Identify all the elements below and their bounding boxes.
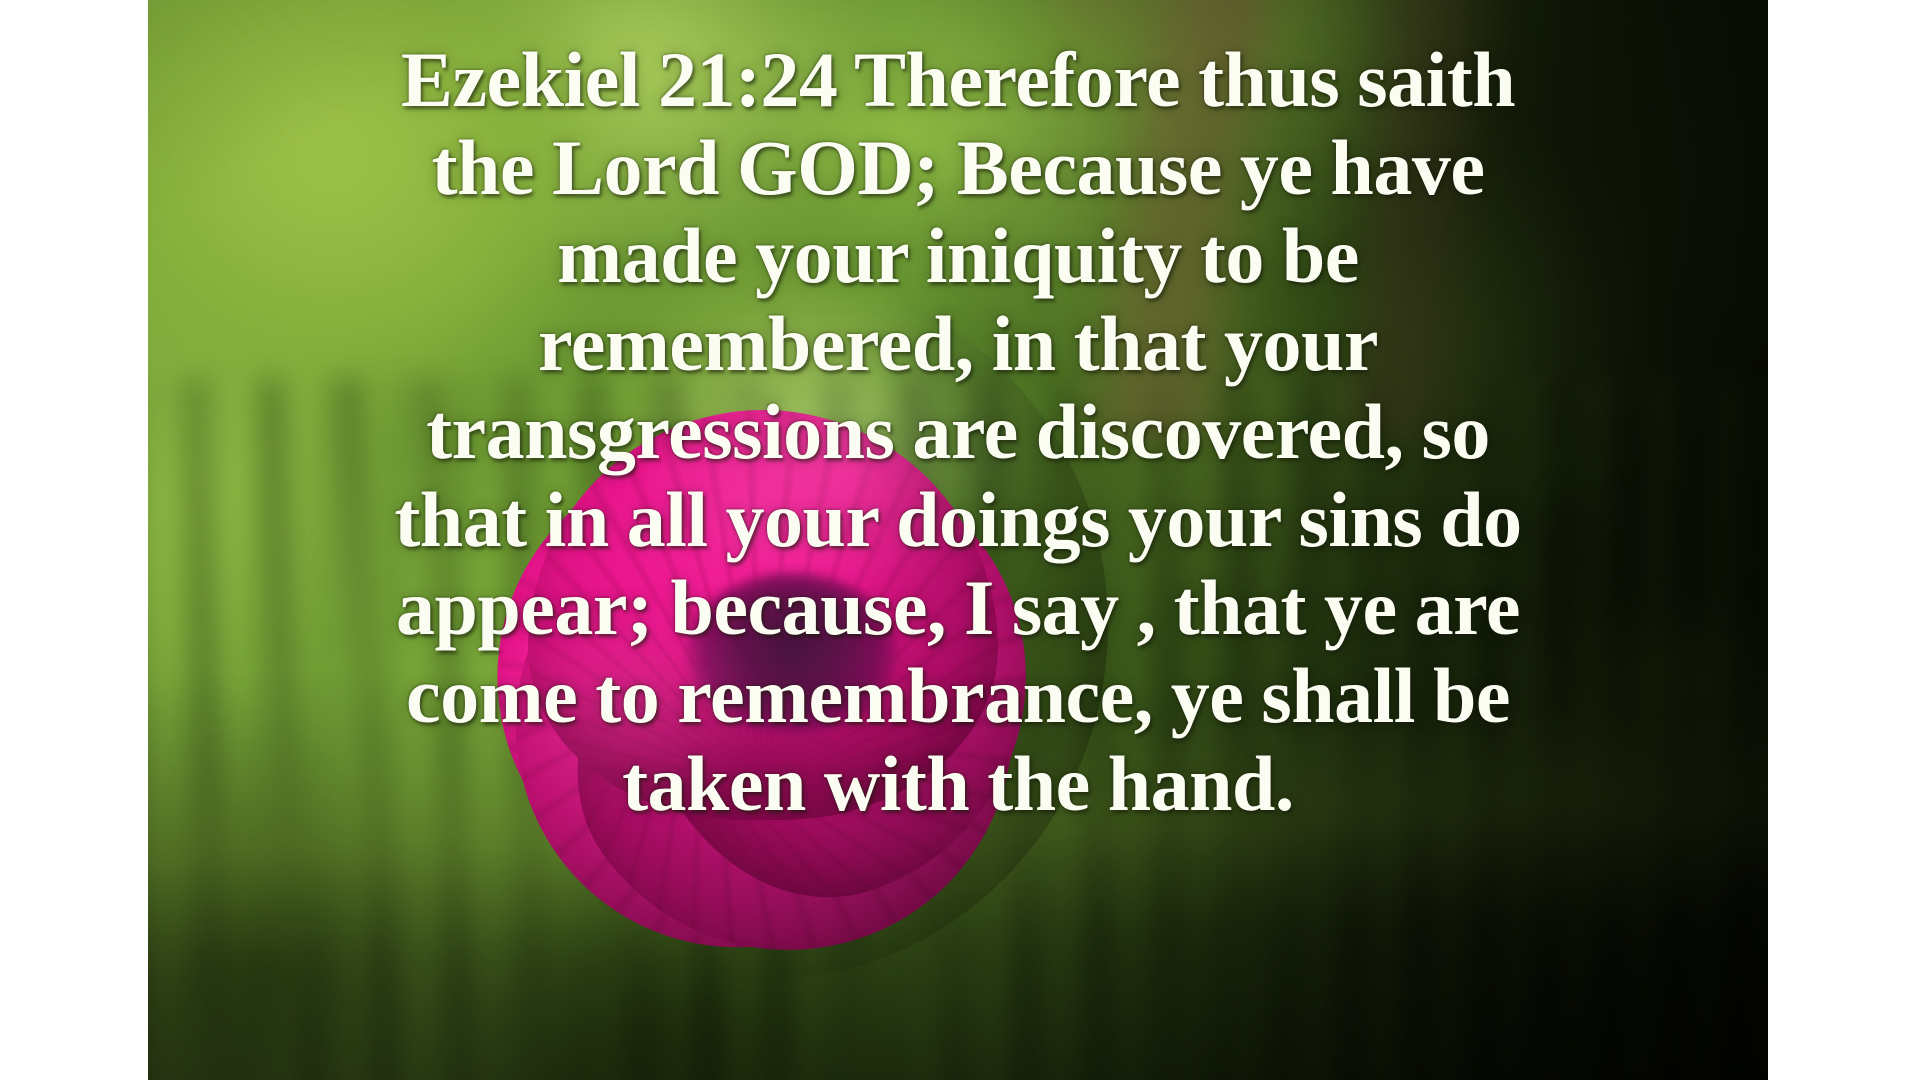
background-photograph <box>148 0 1768 1080</box>
scripture-verse-image: Ezekiel 21:24 Therefore thus saith the L… <box>0 0 1920 1080</box>
flower-throat <box>687 573 897 733</box>
petunia-flower <box>418 270 1108 980</box>
